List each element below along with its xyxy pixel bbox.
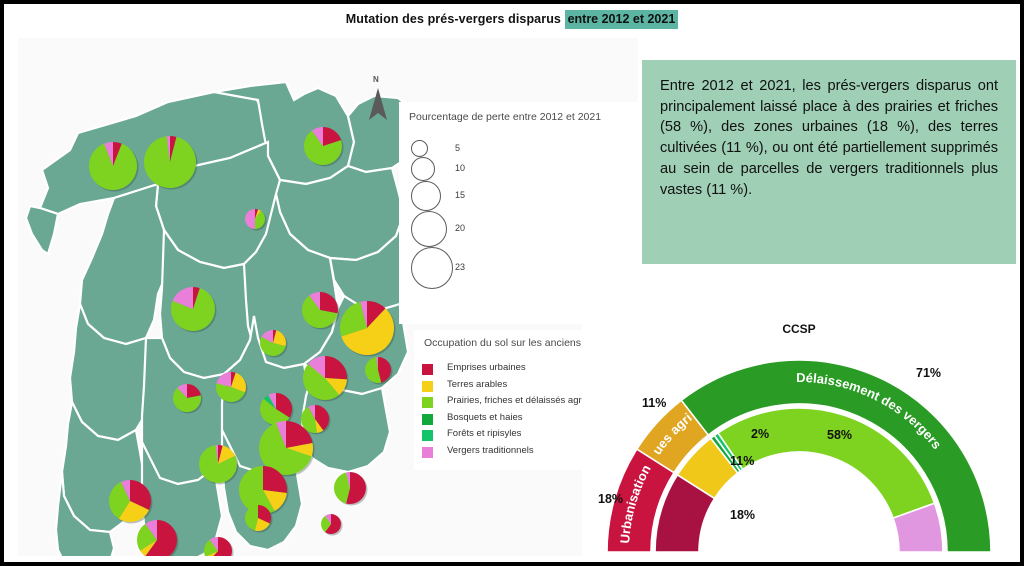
color-legend-swatch <box>422 381 433 392</box>
size-legend-value: 15 <box>455 190 465 200</box>
figure-title: Mutation des prés-vergers disparus entre… <box>4 10 1020 28</box>
sunburst-segment-label: Pratiques agricoles <box>582 314 695 457</box>
size-legend-item: 5 <box>407 140 547 155</box>
color-legend-label: Terres arables <box>447 379 507 390</box>
sunburst-percent-label: 18% <box>730 508 755 522</box>
size-legend-circle <box>411 140 428 157</box>
color-legend-swatch <box>422 430 433 441</box>
color-legend-swatch <box>422 397 433 408</box>
sunburst-percent-label: 11% <box>730 454 754 468</box>
size-legend-item: 20 <box>407 211 547 245</box>
title-plain: Mutation des prés-vergers disparus <box>346 12 565 26</box>
color-legend-label: Forêts et ripisyles <box>447 428 521 439</box>
color-legend-swatch <box>422 414 433 425</box>
size-legend-value: 10 <box>455 163 465 173</box>
size-legend-circle <box>411 181 441 211</box>
color-legend-label: Vergers traditionnels <box>447 445 534 456</box>
sunburst-chart[interactable]: CCSP UrbanisationPratiques agricolesDéla… <box>582 314 1016 558</box>
color-legend-label: Emprises urbaines <box>447 362 526 373</box>
size-legend-item: 23 <box>407 247 547 287</box>
figure-frame: Mutation des prés-vergers disparus entre… <box>0 0 1024 566</box>
figure-canvas: Mutation des prés-vergers disparus entre… <box>4 4 1020 562</box>
color-legend-label: Bosquets et haies <box>447 412 523 423</box>
sunburst-percent-label: 58% <box>827 428 852 442</box>
sunburst-svg: UrbanisationPratiques agricolesDélaissem… <box>582 314 1016 558</box>
size-legend-value: 5 <box>455 143 460 153</box>
size-legend-value: 23 <box>455 262 465 272</box>
size-legend-circle <box>411 157 435 181</box>
sunburst-percent-label: 18% <box>598 492 623 506</box>
size-legend-value: 20 <box>455 223 465 233</box>
size-legend-item: 15 <box>407 181 547 209</box>
size-legend-item: 10 <box>407 157 547 179</box>
north-label: N <box>373 75 379 84</box>
size-legend-circle <box>411 211 447 247</box>
title-highlight: entre 2012 et 2021 <box>565 10 679 29</box>
size-legend-title: Pourcentage de perte entre 2012 et 2021 <box>409 111 601 123</box>
north-arrow-icon: N <box>365 76 391 126</box>
sunburst-percent-label: 71% <box>916 366 941 380</box>
summary-text: Entre 2012 et 2021, les prés-vergers dis… <box>642 60 1016 200</box>
color-legend-swatch <box>422 364 433 375</box>
commune-polygon <box>26 206 58 254</box>
summary-textbox: Entre 2012 et 2021, les prés-vergers dis… <box>642 60 1016 264</box>
sunburst-percent-label: 2% <box>751 427 769 441</box>
sunburst-percent-label: 11% <box>642 396 666 410</box>
color-legend-swatch <box>422 447 433 458</box>
size-legend: Pourcentage de perte entre 2012 et 2021 … <box>399 102 644 324</box>
size-legend-circle <box>411 247 453 289</box>
